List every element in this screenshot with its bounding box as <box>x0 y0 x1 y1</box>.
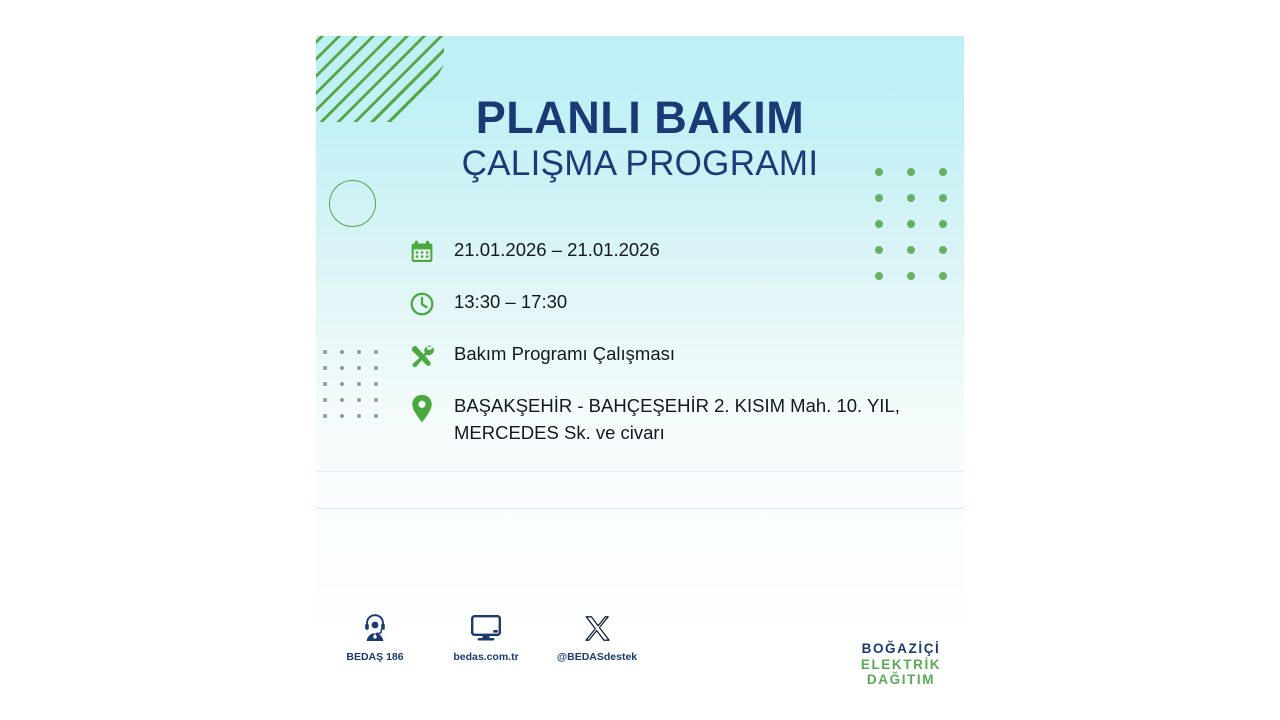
x-twitter-icon <box>584 608 611 642</box>
circle-outline-decoration <box>329 180 376 227</box>
contact-phone-label: BEDAŞ 186 <box>346 651 403 663</box>
detail-row-location: BAŞAKŞEHİR - BAHÇEŞEHİR 2. KISIM Mah. 10… <box>406 392 936 447</box>
logo-line-elektrik: ELEKTRİK <box>847 658 955 672</box>
contact-phone[interactable]: BEDAŞ 186 <box>338 608 412 663</box>
background-seam-line <box>316 508 964 509</box>
logo-line-dagitim: DAĞITIM <box>847 673 955 686</box>
logo-line-bogazici: BOĞAZİÇİ <box>847 642 955 656</box>
tools-icon <box>406 341 438 371</box>
contact-x-account[interactable]: @BEDASdestek <box>560 608 634 663</box>
background-seam-line <box>316 471 964 472</box>
detail-row-work-type: Bakım Programı Çalışması <box>406 340 936 371</box>
detail-row-date: 21.01.2026 – 21.01.2026 <box>406 236 936 267</box>
detail-text-location: BAŞAKŞEHİR - BAHÇEŞEHİR 2. KISIM Mah. 10… <box>454 392 924 447</box>
contact-channels: BEDAŞ 186 bedas.com.tr <box>338 608 634 663</box>
bedas-logo: BOĞAZİÇİ ELEKTRİK DAĞITIM "enerjimizle y… <box>847 642 955 686</box>
headset-support-icon <box>360 608 390 642</box>
contact-website[interactable]: bedas.com.tr <box>449 608 523 663</box>
contact-x-label: @BEDASdestek <box>557 651 637 663</box>
monitor-icon <box>470 608 502 642</box>
page-title: PLANLI BAKIM ÇALIŞMA PROGRAMI <box>316 94 964 184</box>
detail-text-work-type: Bakım Programı Çalışması <box>454 340 675 367</box>
details-list: 21.01.2026 – 21.01.2026 13:30 – 17:30 <box>406 236 936 447</box>
title-sub: ÇALIŞMA PROGRAMI <box>316 145 964 184</box>
title-main: PLANLI BAKIM <box>316 94 964 141</box>
detail-text-date: 21.01.2026 – 21.01.2026 <box>454 236 660 263</box>
detail-row-time: 13:30 – 17:30 <box>406 288 936 319</box>
planned-maintenance-card: PLANLI BAKIM ÇALIŞMA PROGRAMI <box>316 36 964 686</box>
clock-icon <box>406 289 438 319</box>
contact-website-label: bedas.com.tr <box>453 651 518 663</box>
card-footer: BEDAŞ 186 bedas.com.tr <box>316 608 964 686</box>
dot-grid-left-decoration <box>323 350 391 430</box>
screenshot-root: PLANLI BAKIM ÇALIŞMA PROGRAMI <box>0 0 1280 720</box>
detail-text-time: 13:30 – 17:30 <box>454 288 567 315</box>
location-pin-icon <box>406 393 438 423</box>
calendar-icon <box>406 237 438 267</box>
